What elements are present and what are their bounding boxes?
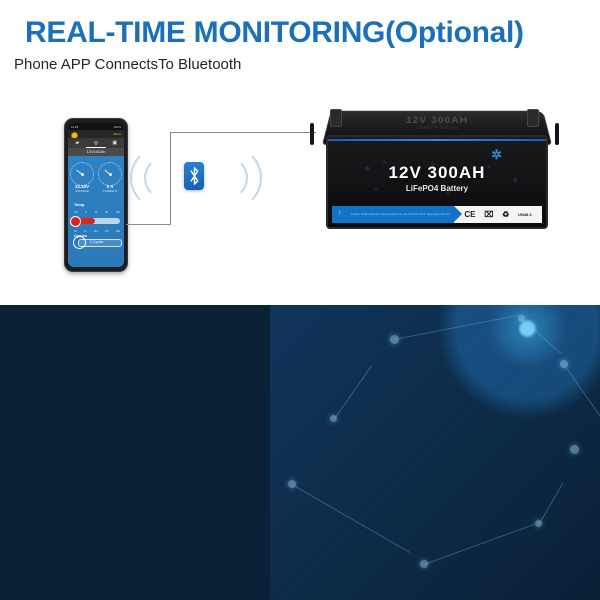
battery-chemistry-text: LiFePO4 Battery: [406, 184, 468, 193]
battery-cable-right: [555, 123, 559, 145]
battery-certification-marks: CE ⌧ ♻ UN38.3: [454, 206, 542, 223]
hero-phone-appbar: Menu: [68, 130, 124, 138]
battery-front-face: ✲ 12V 300AH LiFePO4 Battery Caution: Rea…: [326, 135, 548, 229]
hero-phone-tabs: ▰ ◎ ▣: [68, 138, 124, 148]
menu-button[interactable]: Menu: [113, 132, 121, 136]
status-time: 11:25: [71, 125, 78, 129]
current-gauge-icon: [98, 162, 122, 186]
un38-mark-icon: UN38.3: [518, 212, 532, 217]
hero-voltage-label: VOLTAGE: [68, 189, 96, 193]
weee-bin-icon: ⌧: [484, 210, 493, 219]
wire-left: [126, 224, 170, 225]
voltage-gauge-icon: [70, 162, 94, 186]
battery-label-strip: Caution: Read instruction manual before …: [332, 206, 542, 223]
battery-product-image: 12V 300AH LiFePO4 Battery ✲ 12V 300AH Li…: [312, 105, 557, 230]
bluetooth-connection: [126, 122, 316, 242]
page-subtitle: Phone APP ConnectsTo Bluetooth: [14, 56, 241, 73]
battery-top-text: 12V 300AH: [406, 116, 469, 126]
hero-cycles-knob[interactable]: [73, 236, 86, 249]
tick: 104: [94, 230, 98, 233]
hero-voltage-readout: 13.33V VOLTAGE: [68, 184, 96, 193]
tick: -40: [74, 211, 78, 214]
hero-temp-ticks: -40 0 40 80 120: [74, 211, 120, 214]
battery-terminal-positive: [527, 109, 539, 127]
hero-phone-statusbar: 11:25 100%: [68, 123, 124, 130]
tick: 40: [95, 211, 98, 214]
tick: 80: [105, 211, 108, 214]
hero-phone: 11:25 100% Menu ▰ ◎ ▣ 12V100Ah: [64, 118, 128, 272]
warning-triangle-icon: [336, 210, 346, 219]
bluetooth-icon: ✲: [491, 147, 502, 163]
tick: 0: [85, 211, 86, 214]
hero-gauge-row: [68, 162, 124, 186]
grid-icon[interactable]: ▣: [105, 141, 124, 146]
gauge-icon[interactable]: ◎: [87, 141, 106, 146]
battery-icon[interactable]: ▰: [68, 141, 87, 146]
tab-underline: [86, 147, 105, 148]
hero-phone-title: 12V100Ah: [68, 148, 124, 156]
battery-caution-text: Caution: Read instruction manual before …: [351, 213, 451, 217]
battery-accent-line: [328, 139, 546, 141]
product-infographic: REAL-TIME MONITORING(Optional) Phone APP…: [0, 0, 600, 600]
bluetooth-icon: [184, 162, 204, 190]
hero-current-label: CURRENT: [96, 189, 124, 193]
battery-capacity-text: 12V 300AH: [389, 163, 486, 183]
battery-top-subtext: LiFePO4 Battery: [415, 125, 458, 130]
battery-terminal-negative: [330, 109, 342, 127]
hero-phone-body: 13.33V VOLTAGE 0 A CURRENT Temp -40 0 40…: [68, 156, 124, 267]
battery-cable-left: [310, 123, 314, 145]
signal-wave-right-2: [198, 146, 262, 210]
hero-temp-knob[interactable]: [70, 216, 81, 227]
hero-cycles-value: 1 Cycles: [90, 240, 103, 244]
tick: 240: [116, 230, 120, 233]
hero-section: REAL-TIME MONITORING(Optional) Phone APP…: [0, 0, 600, 305]
status-battery: 100%: [113, 125, 121, 129]
wire-top: [170, 132, 316, 133]
battery-warning-band: Caution: Read instruction manual before …: [332, 206, 454, 223]
recycle-icon: ♻: [502, 210, 509, 219]
tick: 120: [116, 211, 120, 214]
hero-phone-screen: 11:25 100% Menu ▰ ◎ ▣ 12V100Ah: [68, 123, 124, 267]
hero-current-readout: 0 A CURRENT: [96, 184, 124, 193]
hero-temp-label: Temp: [74, 202, 84, 207]
ce-mark-icon: CE: [464, 210, 475, 219]
app-ui-section: APP UI Optional Bluetooth Temperature mo…: [0, 305, 600, 600]
page-title: REAL-TIME MONITORING(Optional): [25, 16, 524, 50]
network-background-graphic: [270, 305, 600, 600]
tick: 176: [105, 230, 109, 233]
